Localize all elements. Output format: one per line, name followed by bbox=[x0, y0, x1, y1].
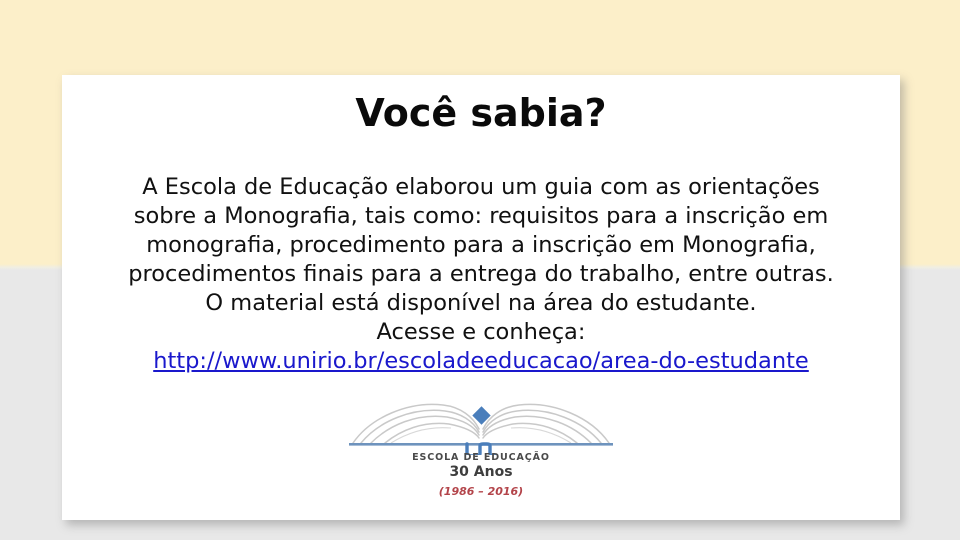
slide-title: Você sabia? bbox=[62, 90, 900, 136]
content-card: Você sabia? A Escola de Educação elaboro… bbox=[62, 75, 900, 520]
escola-de-educacao-logo: ESCOLA DE EDUCAÇÃO 30 Anos (1986 – 2016) bbox=[331, 393, 631, 505]
link-row: http://www.unirio.br/escoladeeducacao/ar… bbox=[72, 347, 890, 376]
slide: Você sabia? A Escola de Educação elaboro… bbox=[0, 0, 960, 540]
body-line: A Escola de Educação elaborou um guia co… bbox=[72, 173, 890, 202]
body-line: monografia, procedimento para a inscriçã… bbox=[72, 231, 890, 260]
body-line: procedimentos finais para a entrega do t… bbox=[72, 260, 890, 289]
open-book-icon bbox=[331, 393, 631, 455]
logo-period: (1986 – 2016) bbox=[331, 484, 631, 499]
content-card-inner: Você sabia? A Escola de Educação elaboro… bbox=[62, 75, 900, 520]
slide-body: A Escola de Educação elaborou um guia co… bbox=[72, 173, 890, 347]
logo-school-name: ESCOLA DE EDUCAÇÃO bbox=[331, 452, 631, 464]
body-line: Acesse e conheça: bbox=[72, 318, 890, 347]
body-line: sobre a Monografia, tais como: requisito… bbox=[72, 202, 890, 231]
body-line: O material está disponível na área do es… bbox=[72, 289, 890, 318]
logo-text: ESCOLA DE EDUCAÇÃO 30 Anos (1986 – 2016) bbox=[331, 452, 631, 499]
student-area-link[interactable]: http://www.unirio.br/escoladeeducacao/ar… bbox=[153, 348, 809, 374]
logo-anniversary: 30 Anos bbox=[331, 464, 631, 480]
